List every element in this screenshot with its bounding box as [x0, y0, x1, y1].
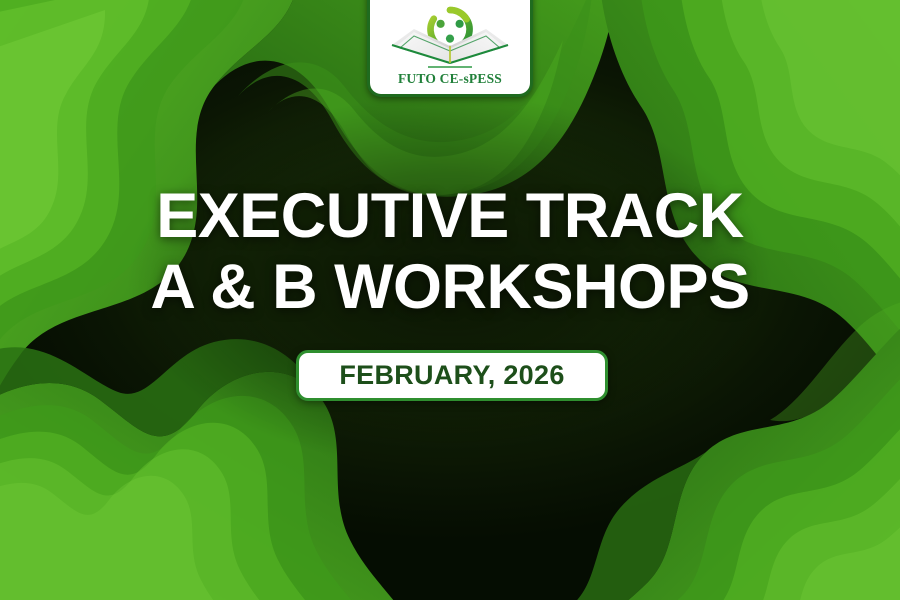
date-badge: FEBRUARY, 2026 — [296, 350, 608, 401]
logo-caption: FUTO CE-sPESS — [398, 72, 502, 86]
title-line-1: EXECUTIVE TRACK — [0, 181, 900, 252]
page-title: EXECUTIVE TRACK A & B WORKSHOPS — [0, 181, 900, 323]
title-line-2: A & B WORKSHOPS — [0, 252, 900, 323]
futo-cespess-logo-icon — [384, 5, 516, 71]
blob-bottom-right — [508, 300, 900, 600]
logo-card: FUTO CE-sPESS — [367, 0, 533, 97]
date-badge-label: FEBRUARY, 2026 — [339, 362, 564, 389]
event-banner: FUTO CE-sPESS EXECUTIVE TRACK A & B WORK… — [0, 0, 900, 600]
